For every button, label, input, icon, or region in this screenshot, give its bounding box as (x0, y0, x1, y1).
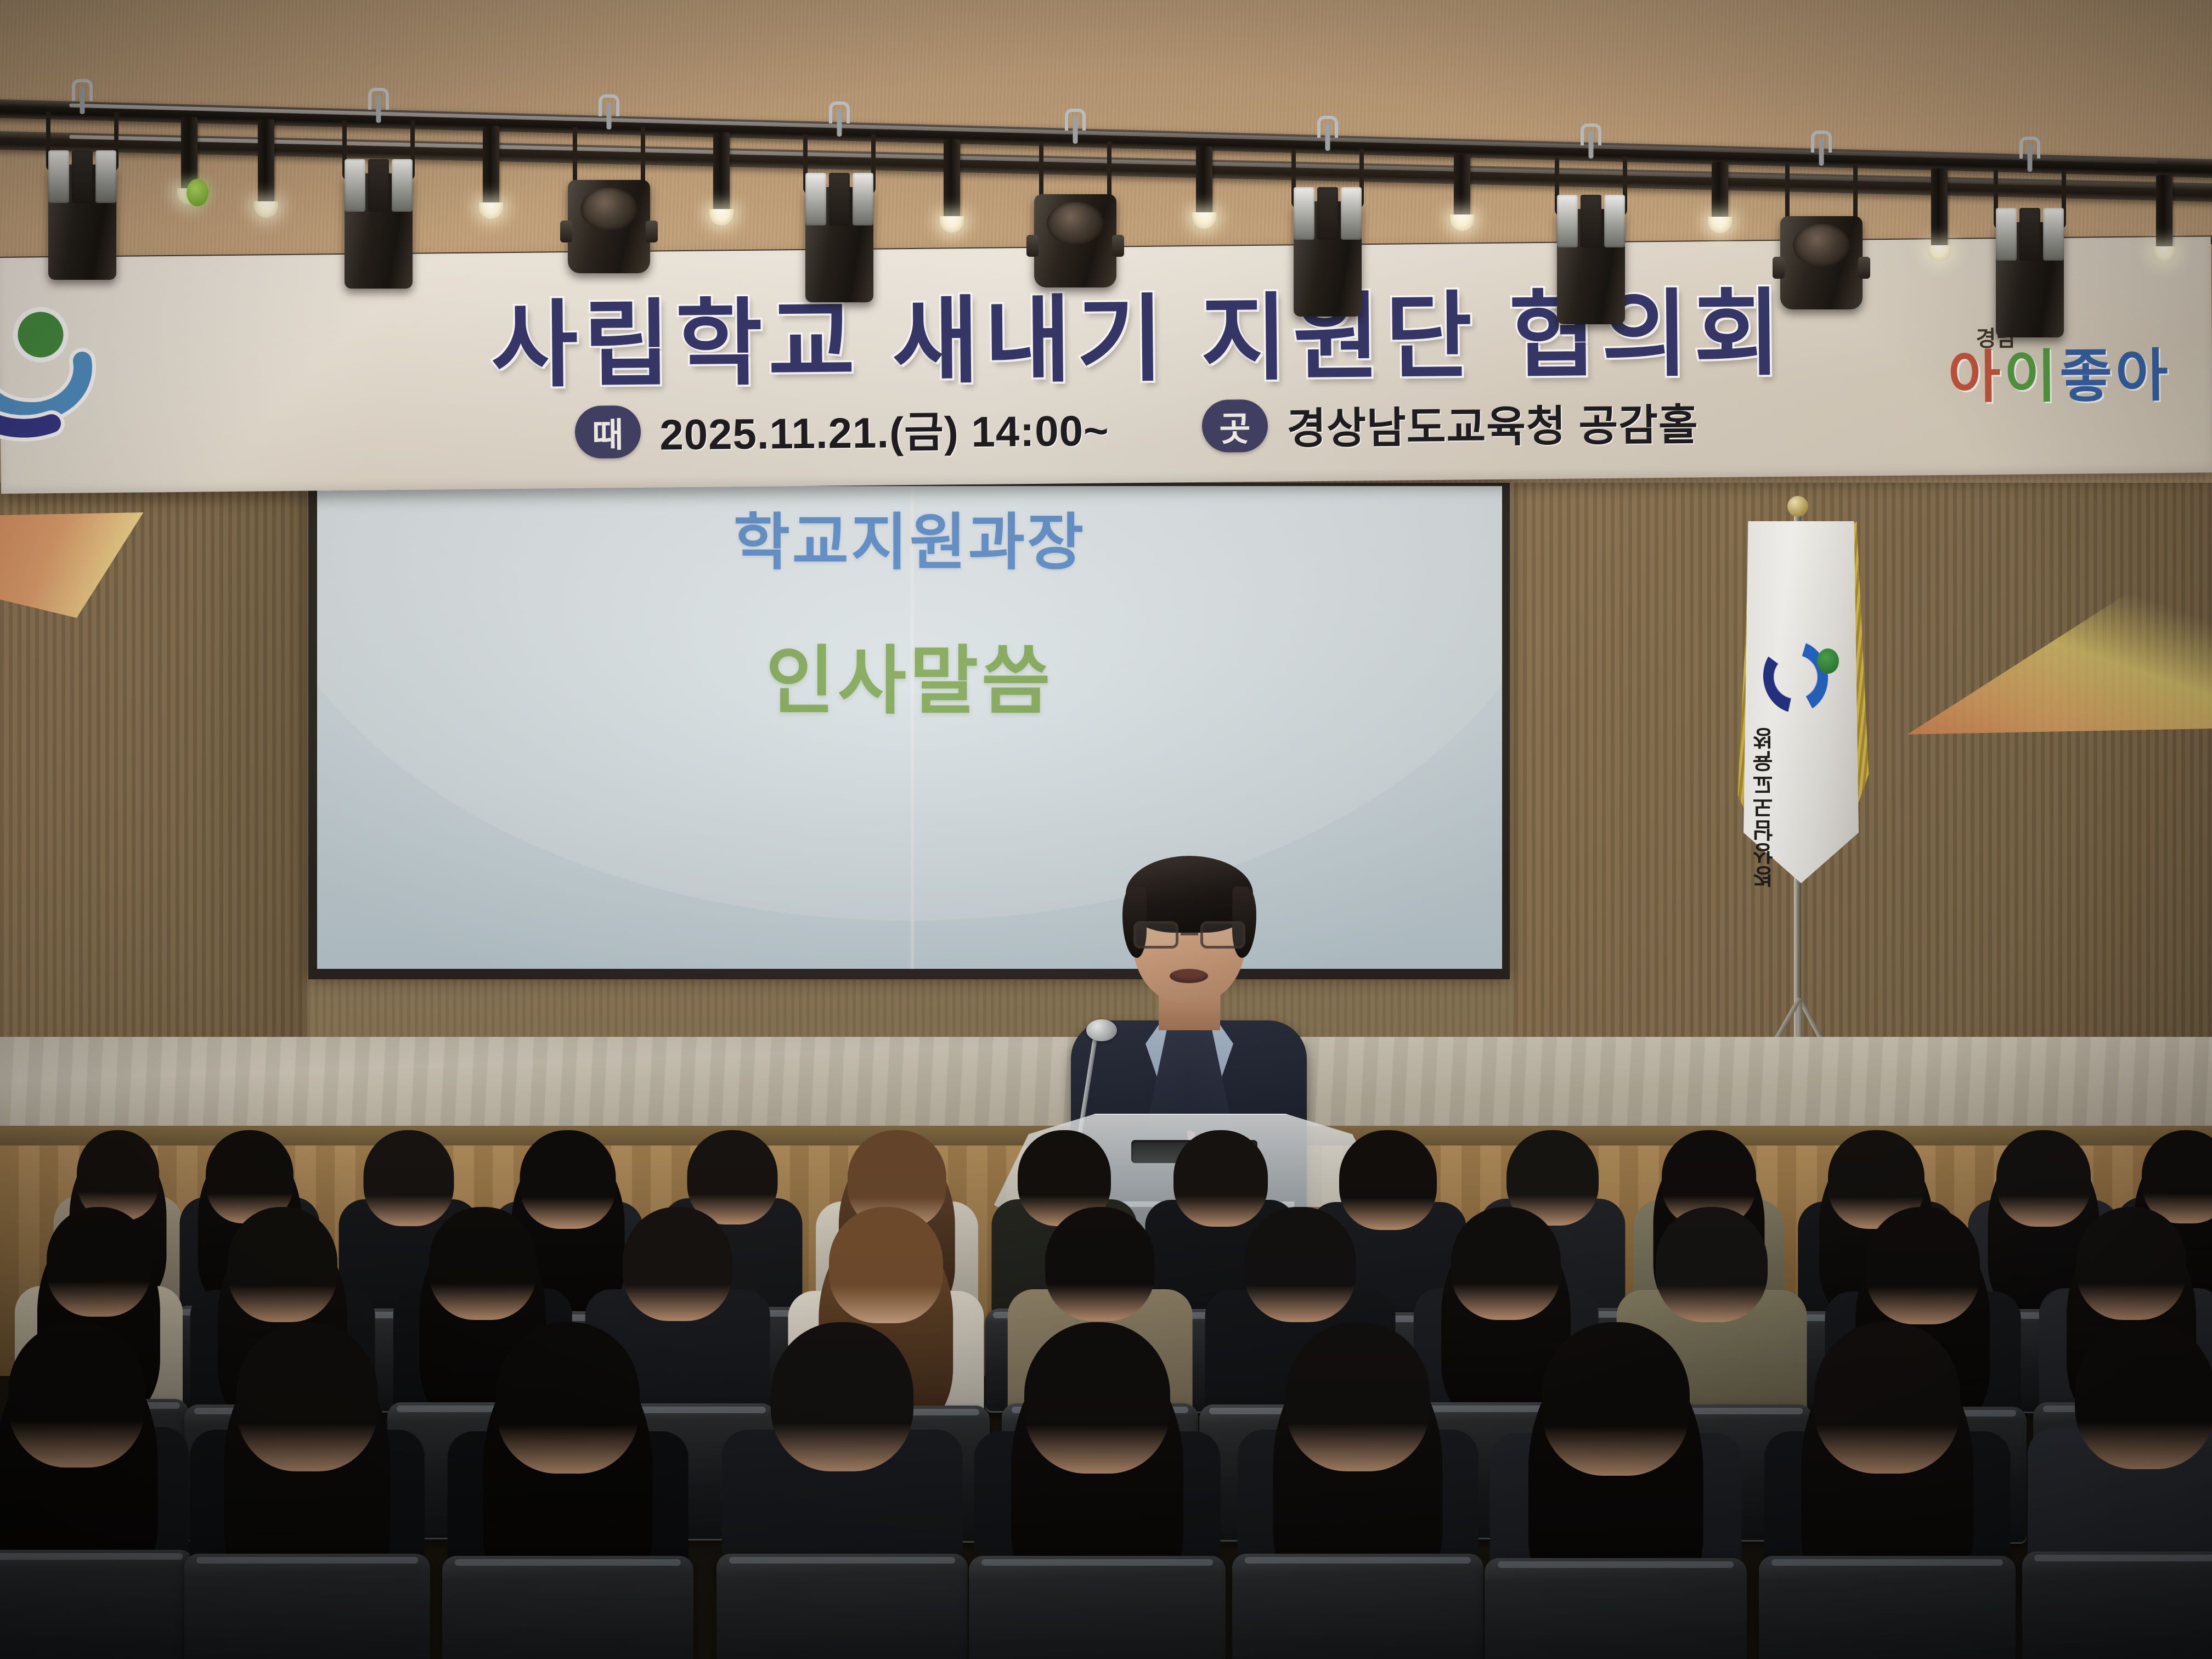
par-knob (560, 221, 572, 242)
audience-member-head (1814, 1322, 1960, 1474)
flag-emblem-icon (1759, 635, 1841, 723)
podium-led-indicator (187, 179, 208, 206)
par-knob (1026, 235, 1039, 257)
light-yoke-clamp (1039, 142, 1111, 201)
audience-member-head (771, 1322, 913, 1471)
auditorium-seat (1485, 1558, 1747, 1659)
par-knob (1858, 257, 1870, 279)
barn-door-icon (1281, 187, 1374, 240)
par-can-light (1775, 163, 1868, 345)
par-knob (1773, 257, 1785, 279)
glasses-icon (1133, 921, 1245, 949)
downlight-lamp-icon (1192, 212, 1216, 229)
auditorium-seat (0, 1550, 194, 1659)
audience-member-head (8, 1322, 145, 1468)
fresnel-light (793, 134, 886, 315)
barn-door-icon (36, 150, 129, 203)
downlight-lamp-icon (1708, 217, 1732, 233)
barn-door-icon (1983, 208, 2076, 261)
auditorium-seat (1232, 1554, 1483, 1659)
downlight (944, 139, 960, 227)
auditorium-seat (442, 1556, 693, 1659)
audience-row (0, 1125, 2212, 1659)
barn-door-icon (1544, 195, 1638, 247)
flag-finial (1787, 496, 1808, 517)
auditorium-seat (969, 1556, 1226, 1659)
fresnel-light (1281, 149, 1374, 330)
downlight (1931, 168, 1948, 256)
slide-heading: 학교지원과장 (317, 493, 1502, 582)
downlight (483, 126, 499, 213)
par-can-body (568, 180, 650, 273)
downlight-lamp-icon (940, 216, 964, 233)
par-can-light (562, 127, 656, 308)
speaker-mouth (1170, 969, 1208, 983)
auditorium-photo: 학교지원과장 인사말씀 경상남도교육청 사립학교 새내기 지원단 협의회 때 2… (0, 0, 2212, 1659)
auditorium-seat (184, 1554, 430, 1659)
par-lens-icon (580, 188, 637, 230)
downlight (1196, 146, 1212, 223)
lighting-truss (0, 0, 2212, 417)
audience-member-head (1286, 1322, 1430, 1471)
ceremonial-flag: 경상남도교육청 (1679, 505, 1915, 1092)
light-yoke-clamp (573, 127, 645, 187)
fresnel-light (1983, 170, 2076, 351)
audience (0, 1125, 2212, 1659)
downlight (1712, 162, 1728, 228)
barn-door-icon (332, 159, 425, 212)
barn-door-icon (793, 173, 886, 225)
auditorium-seat (716, 1554, 968, 1659)
par-can-body (1034, 194, 1116, 287)
fresnel-light (1544, 156, 1638, 337)
downlight (713, 132, 730, 220)
downlight-lamp-icon (479, 202, 503, 219)
downlight-lamp-icon (254, 201, 278, 218)
downlight (1454, 154, 1470, 225)
downlight (2156, 175, 2172, 257)
audience-member-head (496, 1322, 640, 1474)
fresnel-light (36, 112, 129, 293)
flag-green-dot-icon (1817, 648, 1839, 674)
audience-member-head (1542, 1322, 1690, 1476)
auditorium-seat (1759, 1556, 2016, 1659)
flag-swoosh-icon (1758, 636, 1832, 717)
par-knob (1112, 235, 1124, 257)
par-knob (646, 221, 658, 242)
fresnel-light (332, 121, 425, 302)
light-yoke-clamp (1785, 163, 1858, 223)
slide-subtitle: 인사말씀 (317, 620, 1502, 729)
microphone-icon (1086, 1019, 1117, 1041)
downlight-lamp-icon (2152, 246, 2176, 263)
par-can-body (1780, 216, 1863, 309)
par-lens-icon (1793, 224, 1850, 267)
downlight-lamp-icon (1927, 245, 1951, 262)
par-can-light (1029, 142, 1122, 323)
audience-member-head (1024, 1322, 1170, 1474)
audience-member-head (236, 1322, 378, 1471)
audience-member-head (2075, 1322, 2212, 1469)
par-lens-icon (1047, 202, 1104, 245)
downlight-lamp-icon (1450, 215, 1474, 231)
flag-label: 경상남도교육청 (1745, 726, 1776, 888)
downlight (258, 119, 274, 212)
auditorium-seat (2022, 1551, 2212, 1659)
downlight-lamp-icon (709, 209, 733, 225)
